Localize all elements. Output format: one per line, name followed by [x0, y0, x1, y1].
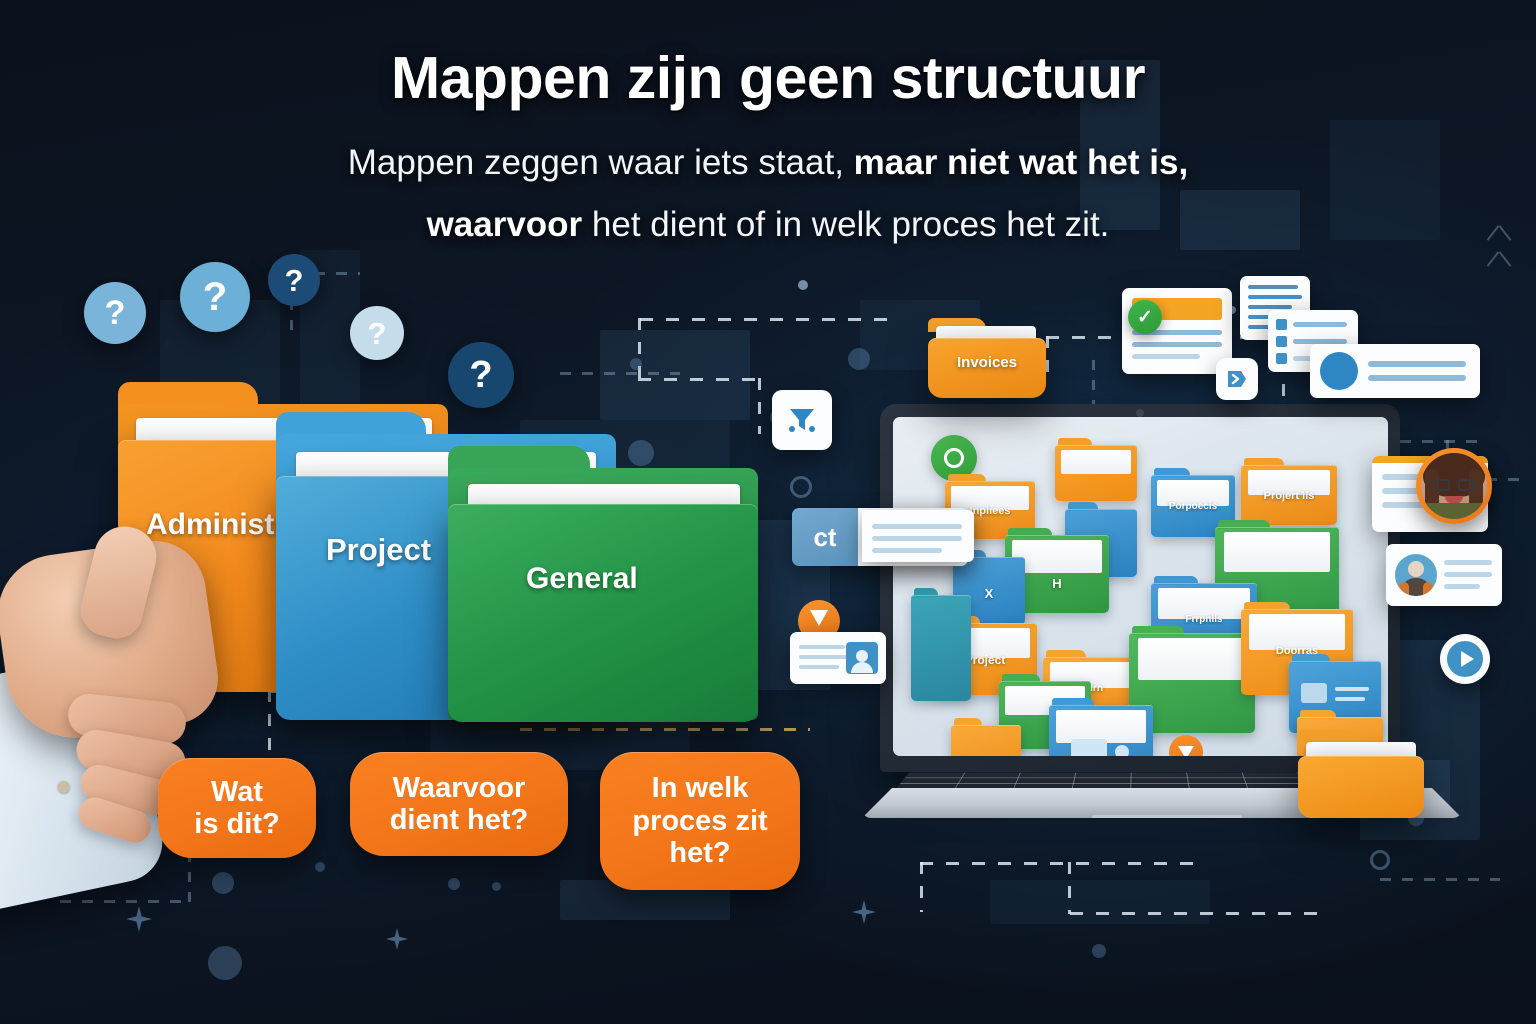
- tag-send-icon[interactable]: [1216, 358, 1258, 400]
- subtitle-normal-1: Mappen zeggen waar iets staat,: [348, 143, 854, 182]
- subtitle-bold-1: maar niet wat het is,: [854, 143, 1189, 182]
- question-mark-icon: ?: [105, 296, 126, 330]
- pill-line-1: Waarvoor: [390, 772, 529, 804]
- question-bubble-5: ?: [448, 342, 514, 408]
- pill-line-2: proces zit: [632, 805, 767, 837]
- laptop-lid: Inpliees Porpoecis Projert lls H: [880, 404, 1400, 772]
- folder-general-label: General: [526, 562, 638, 596]
- question-mark-icon: ?: [469, 356, 492, 394]
- mail-icon: [1301, 683, 1327, 703]
- question-bubble-1: ?: [84, 282, 146, 344]
- folder-project-label: Project: [326, 532, 431, 568]
- screen-folder[interactable]: [1055, 445, 1137, 501]
- poster-canvas: Mappen zijn geen structuur Mappen zeggen…: [0, 0, 1536, 1024]
- orange-pin-icon: [1169, 735, 1203, 756]
- webcam-icon: [1136, 409, 1144, 417]
- folder-general[interactable]: General: [448, 446, 758, 722]
- question-bubble-3: ?: [268, 254, 320, 306]
- avatar: [1320, 352, 1358, 390]
- pill-line-3: het?: [632, 837, 767, 869]
- pill-wat-is-dit[interactable]: Wat is dit?: [158, 758, 316, 858]
- profile-wide-card[interactable]: [1310, 344, 1480, 398]
- check-badge: ✓: [1128, 300, 1162, 334]
- card-icon: [1071, 739, 1107, 756]
- screen-folder[interactable]: [1049, 705, 1153, 756]
- avatar: [1395, 554, 1437, 596]
- pill-line-1: Wat: [194, 776, 279, 808]
- play-button[interactable]: [1440, 634, 1490, 684]
- question-bubble-2: ?: [180, 262, 250, 332]
- pill-line-1: In welk: [632, 772, 767, 804]
- invoices-folder-label: Invoices: [928, 354, 1046, 371]
- invoices-folder[interactable]: Invoices: [928, 318, 1046, 398]
- avatar-thumb-icon: [846, 642, 878, 674]
- screen-folder-label: Projert lls: [1241, 490, 1337, 502]
- play-icon: [1461, 651, 1474, 667]
- trackpad[interactable]: [1092, 815, 1242, 831]
- contact-card-left[interactable]: [790, 632, 886, 684]
- screen-folder[interactable]: [951, 725, 1021, 756]
- question-mark-icon: ?: [203, 277, 227, 317]
- subtitle-line-2: waarvoor het dient of in welk proces het…: [0, 205, 1536, 245]
- screen-folder[interactable]: Projert lls: [1241, 465, 1337, 525]
- screen-folder[interactable]: [911, 595, 971, 701]
- question-mark-icon: ?: [368, 318, 387, 349]
- question-bubble-4: ?: [350, 306, 404, 360]
- question-mark-icon: ?: [285, 265, 304, 296]
- cuff-button: [56, 780, 70, 794]
- pill-line-2: is dit?: [194, 808, 279, 840]
- subtitle-normal-2: het dient of in welk proces het zit.: [582, 205, 1109, 244]
- filter-funnel-icon[interactable]: [772, 390, 832, 450]
- subtitle-bold-2: waarvoor: [427, 205, 583, 244]
- user-avatar[interactable]: [1416, 448, 1492, 524]
- ct-card-label: ct: [792, 508, 858, 566]
- contact-card-right[interactable]: [1386, 544, 1502, 606]
- side-strip-card: [862, 510, 974, 562]
- subtitle-line-1: Mappen zeggen waar iets staat, maar niet…: [0, 143, 1536, 183]
- check-icon: ✓: [1137, 306, 1153, 329]
- pill-waarvoor-dient-het[interactable]: Waarvoor dient het?: [350, 752, 568, 856]
- laptop-screen: Inpliees Porpoecis Projert lls H: [893, 417, 1388, 756]
- pill-line-2: dient het?: [390, 804, 529, 836]
- pill-in-welk-proces-zit-het[interactable]: In welk proces zit het?: [600, 752, 800, 890]
- screen-folder-label: Porpoecis: [1151, 501, 1235, 512]
- deck-folder-orange[interactable]: [1298, 740, 1424, 818]
- page-title: Mappen zijn geen structuur: [0, 44, 1536, 112]
